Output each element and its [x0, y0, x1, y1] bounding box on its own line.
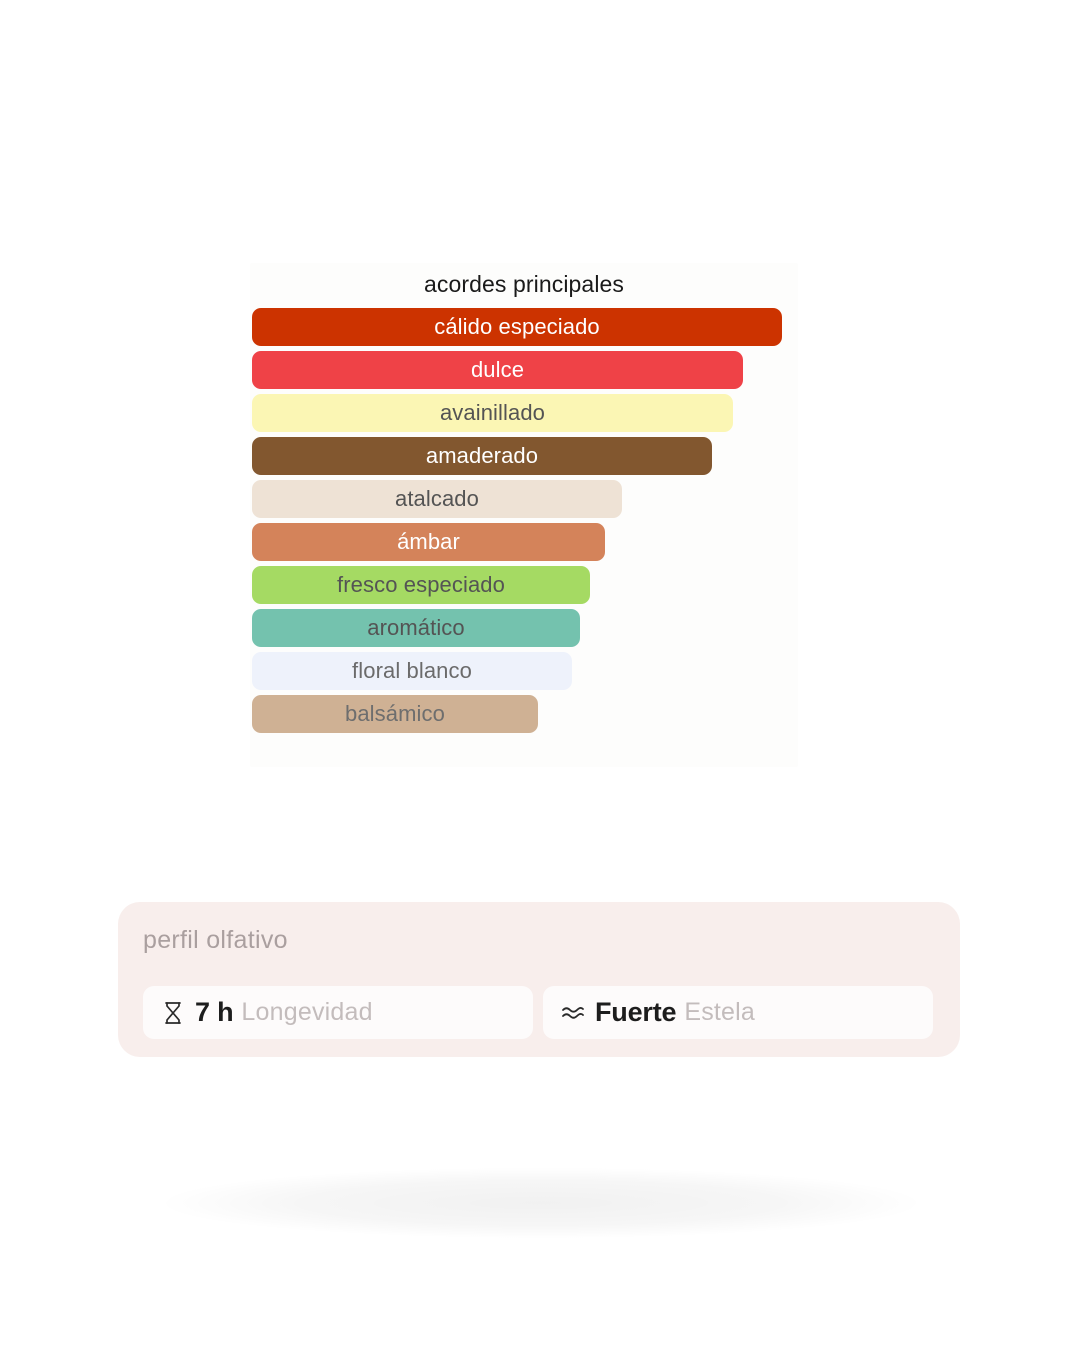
- accord-row[interactable]: fresco especiado: [252, 566, 798, 604]
- accord-bar-label: avainillado: [440, 402, 545, 424]
- accord-bar-label: aromático: [367, 617, 465, 639]
- accord-row[interactable]: avainillado: [252, 394, 798, 432]
- waves-icon: [560, 1000, 586, 1026]
- accord-bar-dulce[interactable]: dulce: [252, 351, 743, 389]
- accord-bar-amaderado[interactable]: amaderado: [252, 437, 712, 475]
- accord-bar-label: cálido especiado: [434, 316, 600, 338]
- accord-bar-label: atalcado: [395, 488, 479, 510]
- accord-bar-fresco-especiado[interactable]: fresco especiado: [252, 566, 590, 604]
- longevity-label: Longevidad: [241, 998, 372, 1027]
- accord-bar-ambar[interactable]: ámbar: [252, 523, 605, 561]
- accord-bar-label: floral blanco: [352, 660, 472, 682]
- accord-row[interactable]: ámbar: [252, 523, 798, 561]
- ground-shadow: [165, 1168, 917, 1238]
- accord-bar-atalcado[interactable]: atalcado: [252, 480, 622, 518]
- accord-bar-avainillado[interactable]: avainillado: [252, 394, 733, 432]
- olfactory-profile-panel: perfil olfativo 7 h Longevidad Fuerte Es…: [118, 902, 960, 1057]
- accord-row[interactable]: amaderado: [252, 437, 798, 475]
- accord-bar-floral-blanco[interactable]: floral blanco: [252, 652, 572, 690]
- sillage-value: Fuerte: [595, 997, 676, 1028]
- accord-bar-label: ámbar: [397, 531, 460, 553]
- accord-row[interactable]: aromático: [252, 609, 798, 647]
- accord-bar-label: amaderado: [426, 445, 538, 467]
- accord-bar-calido-especiado[interactable]: cálido especiado: [252, 308, 782, 346]
- hourglass-icon: [160, 1000, 186, 1026]
- accord-row[interactable]: dulce: [252, 351, 798, 389]
- accord-row[interactable]: balsámico: [252, 695, 798, 733]
- profile-heading: perfil olfativo: [143, 926, 288, 955]
- longevity-chip[interactable]: 7 h Longevidad: [143, 986, 533, 1039]
- accord-bar-aromatico[interactable]: aromático: [252, 609, 580, 647]
- accord-bar-label: fresco especiado: [337, 574, 505, 596]
- accord-row[interactable]: cálido especiado: [252, 308, 798, 346]
- accord-row[interactable]: atalcado: [252, 480, 798, 518]
- accords-chart-title: acordes principales: [250, 263, 798, 305]
- accord-bar-label: dulce: [471, 359, 524, 381]
- accord-bar-label: balsámico: [345, 703, 445, 725]
- accords-chart-card: acordes principales cálido especiado dul…: [250, 263, 798, 767]
- accords-bar-list: cálido especiado dulce avainillado amade…: [252, 308, 798, 738]
- sillage-chip[interactable]: Fuerte Estela: [543, 986, 933, 1039]
- accord-row[interactable]: floral blanco: [252, 652, 798, 690]
- longevity-value: 7 h: [195, 997, 233, 1028]
- sillage-label: Estela: [684, 998, 755, 1027]
- accord-bar-balsamico[interactable]: balsámico: [252, 695, 538, 733]
